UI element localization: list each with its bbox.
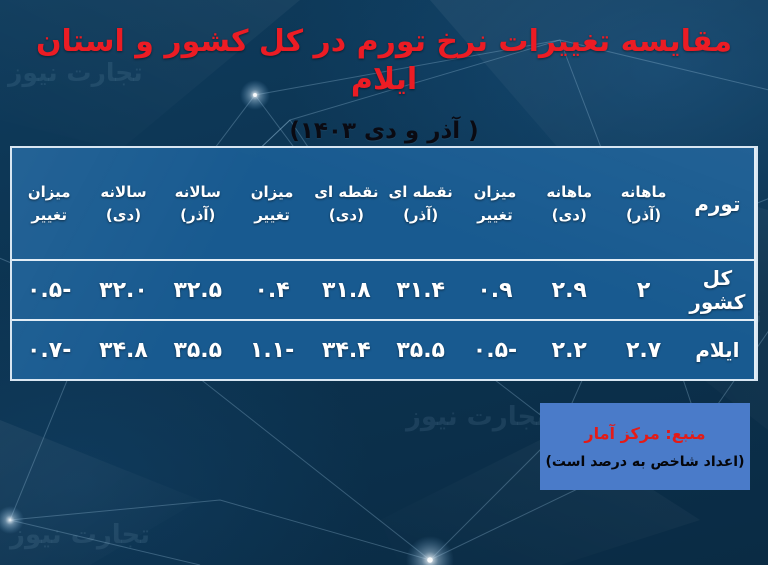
source-box: منبع: مرکز آمار (اعداد شاخص به درصد است) [540, 403, 750, 490]
cell-annual-azar: ۳۲.۵ [161, 260, 235, 320]
column-header-inflation: تورم [681, 148, 755, 260]
cell-pointwise-azar: ۳۵.۵ [384, 320, 458, 379]
column-header-annual-change: میزان تغییر [12, 148, 86, 260]
column-header-line1: سالانه [86, 181, 160, 204]
cell-pointwise-change: ۰.۴ [235, 260, 309, 320]
cell-annual-change: -۰.۵ [12, 260, 86, 320]
table-header: تورم ماهانه (آذر) ماهانه (دی) میزان تغیی… [12, 148, 755, 260]
column-header-pointwise-dey: نقطه ای (دی) [309, 148, 383, 260]
column-header-line2: (آذر) [606, 204, 680, 227]
row-label-country: کل کشور [681, 260, 755, 320]
column-header-line2: (دی) [309, 204, 383, 227]
cell-monthly-dey: ۲.۲ [532, 320, 606, 379]
page-title: مقایسه تغییرات نرخ تورم در کل کشور و است… [0, 0, 768, 98]
source-note: (اعداد شاخص به درصد است) [546, 454, 745, 470]
cell-annual-dey: ۳۲.۰ [86, 260, 160, 320]
column-header-annual-dey: سالانه (دی) [86, 148, 160, 260]
table-header-row: تورم ماهانه (آذر) ماهانه (دی) میزان تغیی… [12, 148, 755, 260]
column-header-line2: (آذر) [384, 204, 458, 227]
row-label-ilam: ایلام [681, 320, 755, 379]
column-header-line2: (دی) [86, 204, 160, 227]
column-header-line2: (آذر) [161, 204, 235, 227]
column-header-annual-azar: سالانه (آذر) [161, 148, 235, 260]
column-header-line1: سالانه [161, 181, 235, 204]
inflation-table: تورم ماهانه (آذر) ماهانه (دی) میزان تغیی… [12, 148, 756, 379]
cell-pointwise-dey: ۳۴.۴ [309, 320, 383, 379]
column-header-label: تورم [681, 189, 754, 219]
table-row: کل کشور ۲ ۲.۹ ۰.۹ ۳۱.۴ ۳۱.۸ ۰.۴ ۳۲.۵ ۳۲.… [12, 260, 755, 320]
cell-monthly-change: -۰.۵ [458, 320, 532, 379]
column-header-monthly-dey: ماهانه (دی) [532, 148, 606, 260]
table-body: کل کشور ۲ ۲.۹ ۰.۹ ۳۱.۴ ۳۱.۸ ۰.۴ ۳۲.۵ ۳۲.… [12, 260, 755, 379]
cell-monthly-azar: ۲.۷ [606, 320, 680, 379]
source-label: منبع: مرکز آمار [584, 424, 705, 443]
cell-monthly-change: ۰.۹ [458, 260, 532, 320]
column-header-pointwise-change: میزان تغییر [235, 148, 309, 260]
inflation-table-container: تورم ماهانه (آذر) ماهانه (دی) میزان تغیی… [10, 146, 758, 381]
title-block: مقایسه تغییرات نرخ تورم در کل کشور و است… [0, 0, 768, 144]
cell-monthly-azar: ۲ [606, 260, 680, 320]
column-header-line1: میزان تغییر [235, 181, 309, 226]
column-header-line1: میزان تغییر [458, 181, 532, 226]
column-header-line1: ماهانه [606, 181, 680, 204]
cell-pointwise-change: -۱.۱ [235, 320, 309, 379]
cell-annual-change: -۰.۷ [12, 320, 86, 379]
cell-pointwise-dey: ۳۱.۸ [309, 260, 383, 320]
table-row: ایلام ۲.۷ ۲.۲ -۰.۵ ۳۵.۵ ۳۴.۴ -۱.۱ ۳۵.۵ ۳… [12, 320, 755, 379]
column-header-line1: ماهانه [532, 181, 606, 204]
column-header-line1: نقطه ای [309, 181, 383, 204]
column-header-line1: نقطه ای [384, 181, 458, 204]
column-header-line2: (دی) [532, 204, 606, 227]
cell-pointwise-azar: ۳۱.۴ [384, 260, 458, 320]
column-header-line1: میزان تغییر [12, 181, 86, 226]
cell-annual-azar: ۳۵.۵ [161, 320, 235, 379]
cell-annual-dey: ۳۴.۸ [86, 320, 160, 379]
column-header-monthly-azar: ماهانه (آذر) [606, 148, 680, 260]
column-header-monthly-change: میزان تغییر [458, 148, 532, 260]
cell-monthly-dey: ۲.۹ [532, 260, 606, 320]
column-header-pointwise-azar: نقطه ای (آذر) [384, 148, 458, 260]
page-subtitle: ( آذر و دی ۱۴۰۳) [0, 98, 768, 144]
